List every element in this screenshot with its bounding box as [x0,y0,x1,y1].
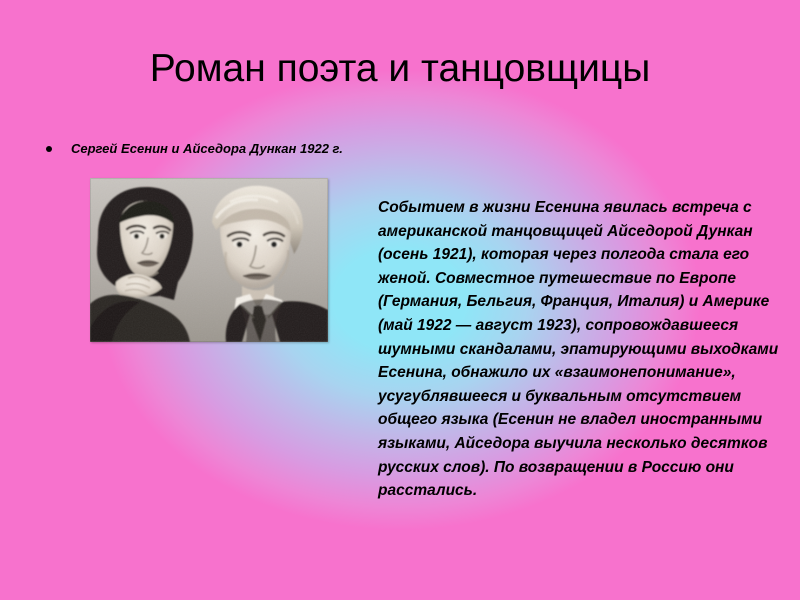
body-paragraph: Событием в жизни Есенина явилась встреча… [378,196,782,503]
page-title: Роман поэта и танцовщицы [0,46,800,92]
photograph-esenin-duncan [90,178,328,342]
bullet-list-item: Сергей Есенин и Айседора Дункан 1922 г. [46,140,466,157]
bullet-dot-icon [46,146,52,152]
bullet-item-label: Сергей Есенин и Айседора Дункан 1922 г. [71,140,343,157]
presentation-slide: Роман поэта и танцовщицы Сергей Есенин и… [0,0,800,600]
body-paragraph-text: Событием в жизни Есенина явилась встреча… [378,196,782,503]
photo-illustration [90,178,328,342]
